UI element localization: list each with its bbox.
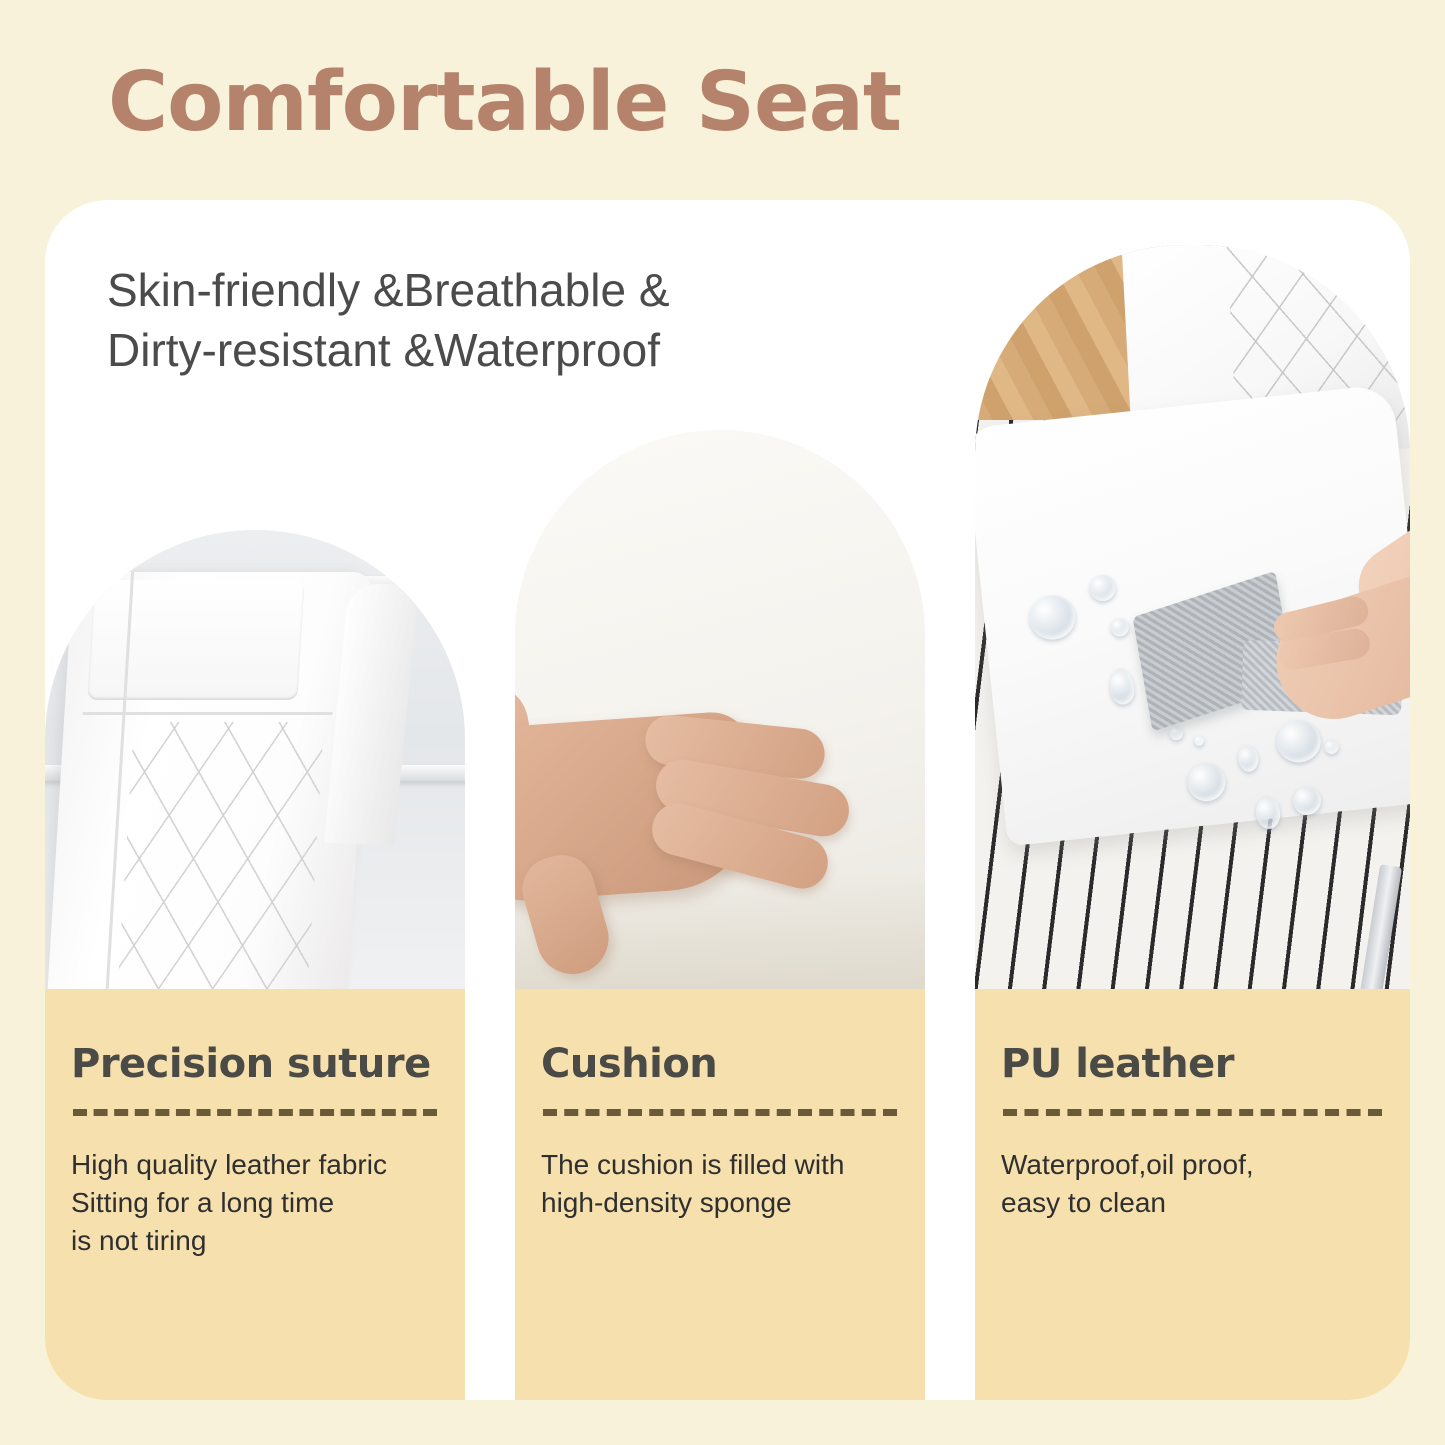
feature-image-pu-leather xyxy=(975,245,1410,990)
content-card: Skin-friendly &Breathable & Dirty-resist… xyxy=(45,200,1410,1400)
caption-body: High quality leather fabric Sitting for … xyxy=(71,1146,439,1260)
water-droplet xyxy=(1110,618,1130,638)
caption-title: Precision suture xyxy=(71,1041,439,1087)
caption-panel-pu-leather: PU leather Waterproof,oil proof, easy to… xyxy=(975,989,1410,1400)
dashed-divider xyxy=(1003,1109,1382,1116)
diamond-stitch-pattern xyxy=(116,722,324,990)
caption-body: The cushion is filled with high-density … xyxy=(541,1146,899,1222)
water-droplet xyxy=(1186,761,1228,803)
infographic-root: Comfortable Seat Skin-friendly &Breathab… xyxy=(0,0,1445,1445)
feature-image-cushion xyxy=(515,430,925,990)
water-droplet xyxy=(1027,593,1077,642)
page-title: Comfortable Seat xyxy=(108,55,901,150)
feature-column-pu-leather: PU leather Waterproof,oil proof, easy to… xyxy=(975,200,1410,1400)
feature-image-precision-suture xyxy=(45,530,465,990)
water-droplet xyxy=(1194,735,1205,746)
feature-column-precision-suture: Precision suture High quality leather fa… xyxy=(45,200,465,1400)
dashed-divider xyxy=(73,1109,437,1116)
dashed-divider xyxy=(543,1109,897,1116)
water-droplet xyxy=(1108,667,1136,705)
caption-title: PU leather xyxy=(1001,1041,1384,1087)
caption-title: Cushion xyxy=(541,1041,899,1087)
chair-headrest-panel xyxy=(87,580,304,700)
water-droplet xyxy=(1088,574,1117,603)
caption-panel-cushion: Cushion The cushion is filled with high-… xyxy=(515,989,925,1400)
pressing-hand xyxy=(515,680,885,920)
horizontal-seam xyxy=(82,712,332,715)
caption-panel-precision-suture: Precision suture High quality leather fa… xyxy=(45,989,465,1400)
caption-body: Waterproof,oil proof, easy to clean xyxy=(1001,1146,1384,1222)
chair-back xyxy=(47,572,373,990)
water-droplet xyxy=(1237,745,1260,773)
water-droplet xyxy=(1292,785,1323,816)
wiping-hand xyxy=(1243,528,1410,749)
chair-seat xyxy=(975,384,1410,847)
feature-column-cushion: Cushion The cushion is filled with high-… xyxy=(515,200,925,1400)
water-droplet xyxy=(1169,725,1184,740)
